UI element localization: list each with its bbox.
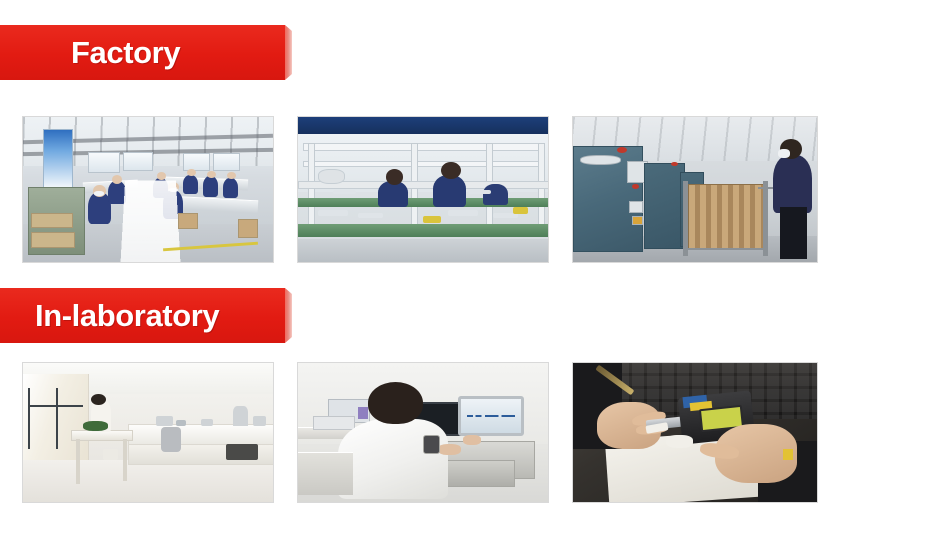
section-title-in-laboratory: In-laboratory [35,300,219,331]
photo-factory-1-content [23,117,273,262]
section-banner-factory: Factory [0,25,285,80]
photo-lab-2 [297,362,549,503]
photo-factory-3-content [573,117,817,262]
banner-bevel-icon [285,288,292,343]
banner-bevel-icon [285,25,292,80]
photo-factory-3 [572,116,818,263]
photo-lab-2-content [298,363,548,502]
photo-factory-2 [297,116,549,263]
photo-factory-2-content [298,117,548,262]
photo-factory-1 [22,116,274,263]
section-banner-in-laboratory: In-laboratory [0,288,285,343]
photo-lab-3-content [573,363,817,502]
page-root: Factory [0,0,950,559]
section-title-factory: Factory [71,37,180,68]
photo-lab-1 [22,362,274,503]
photo-lab-3 [572,362,818,503]
photo-lab-1-content [23,363,273,502]
